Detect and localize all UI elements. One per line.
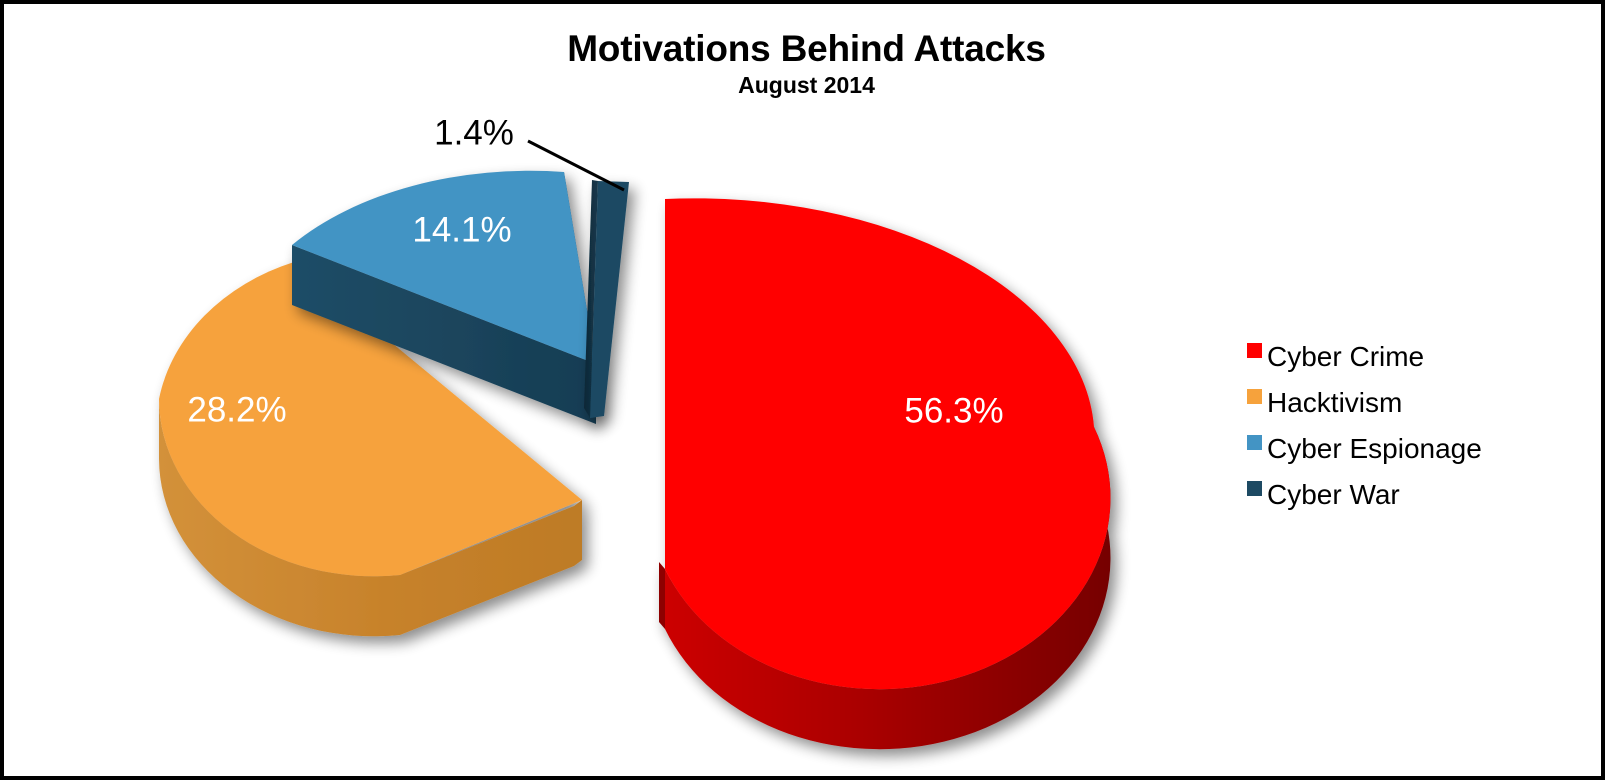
slice-value-cyber-war: 1.4%: [434, 113, 514, 152]
slice-top-cyber-crime: [665, 198, 1110, 689]
slice-edge-cyber-crime: [659, 562, 665, 629]
legend-label-cyber-war: Cyber War: [1267, 478, 1400, 512]
pie-slice-cyber-war[interactable]: [584, 180, 629, 418]
legend-swatch-icon: [1247, 481, 1262, 496]
chart-canvas: Motivations Behind Attacks August 2014: [0, 0, 1605, 780]
legend-item-hacktivism[interactable]: Hacktivism: [1247, 380, 1587, 426]
legend-swatch-icon: [1247, 343, 1262, 358]
pie-slice-cyber-crime[interactable]: [659, 198, 1110, 749]
slice-value-hacktivism: 28.2%: [187, 390, 286, 429]
chart-legend: Cyber Crime Hacktivism Cyber Espionage C…: [1247, 334, 1587, 518]
pie-chart-svg: 28.2% 14.1% 1.4%: [4, 4, 1184, 780]
legend-item-cyber-espionage[interactable]: Cyber Espionage: [1247, 426, 1587, 472]
legend-swatch-icon: [1247, 389, 1262, 404]
legend-swatch-icon: [1247, 435, 1262, 450]
legend-label-cyber-espionage: Cyber Espionage: [1267, 432, 1482, 466]
legend-label-cyber-crime: Cyber Crime: [1267, 340, 1424, 374]
legend-item-cyber-crime[interactable]: Cyber Crime: [1247, 334, 1587, 380]
slice-value-cyber-crime: 56.3%: [904, 391, 1003, 430]
slice-value-cyber-espionage: 14.1%: [412, 210, 511, 249]
slice-edge-hacktivism: [574, 500, 582, 566]
legend-label-hacktivism: Hacktivism: [1267, 386, 1402, 420]
pie-chart-plot-area: 28.2% 14.1% 1.4%: [4, 4, 1184, 780]
legend-item-cyber-war[interactable]: Cyber War: [1247, 472, 1587, 518]
